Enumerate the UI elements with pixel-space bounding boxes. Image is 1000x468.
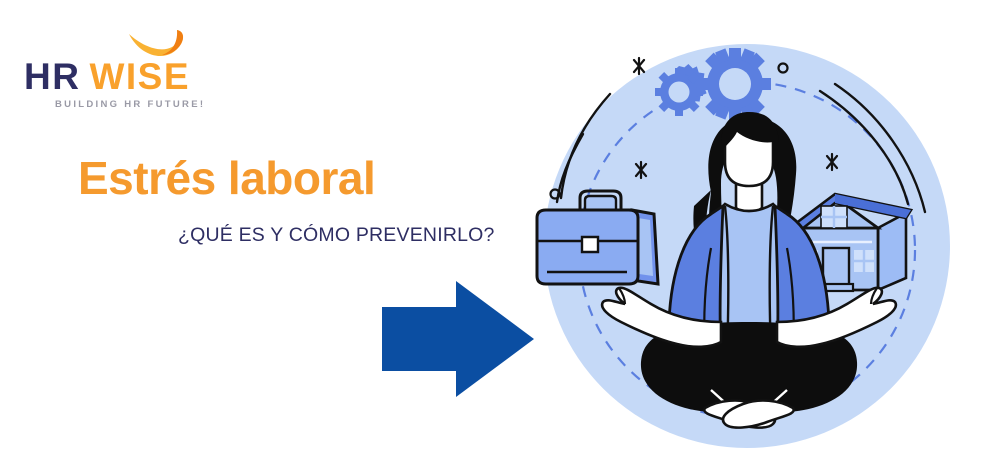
sparkle-icon [634,58,644,74]
logo-tagline: BUILDING HR FUTURE! [55,99,205,110]
poster-canvas: HRWISE BUILDING HR FUTURE! Estrés labora… [0,0,1000,468]
logo-wordmark: HRWISE [24,58,190,95]
gear-large-icon [699,48,771,120]
meditating-woman-illustration [525,22,975,462]
logo-text-hr: HR [24,56,80,97]
logo-text-wise: WISE [89,56,190,97]
arrow-right-icon[interactable] [382,281,534,397]
page-title: Estrés laboral [78,151,375,205]
page-subtitle: ¿QUÉ ES Y CÓMO PREVENIRLO? [178,224,495,247]
brand-logo[interactable]: HRWISE BUILDING HR FUTURE! [24,30,254,114]
